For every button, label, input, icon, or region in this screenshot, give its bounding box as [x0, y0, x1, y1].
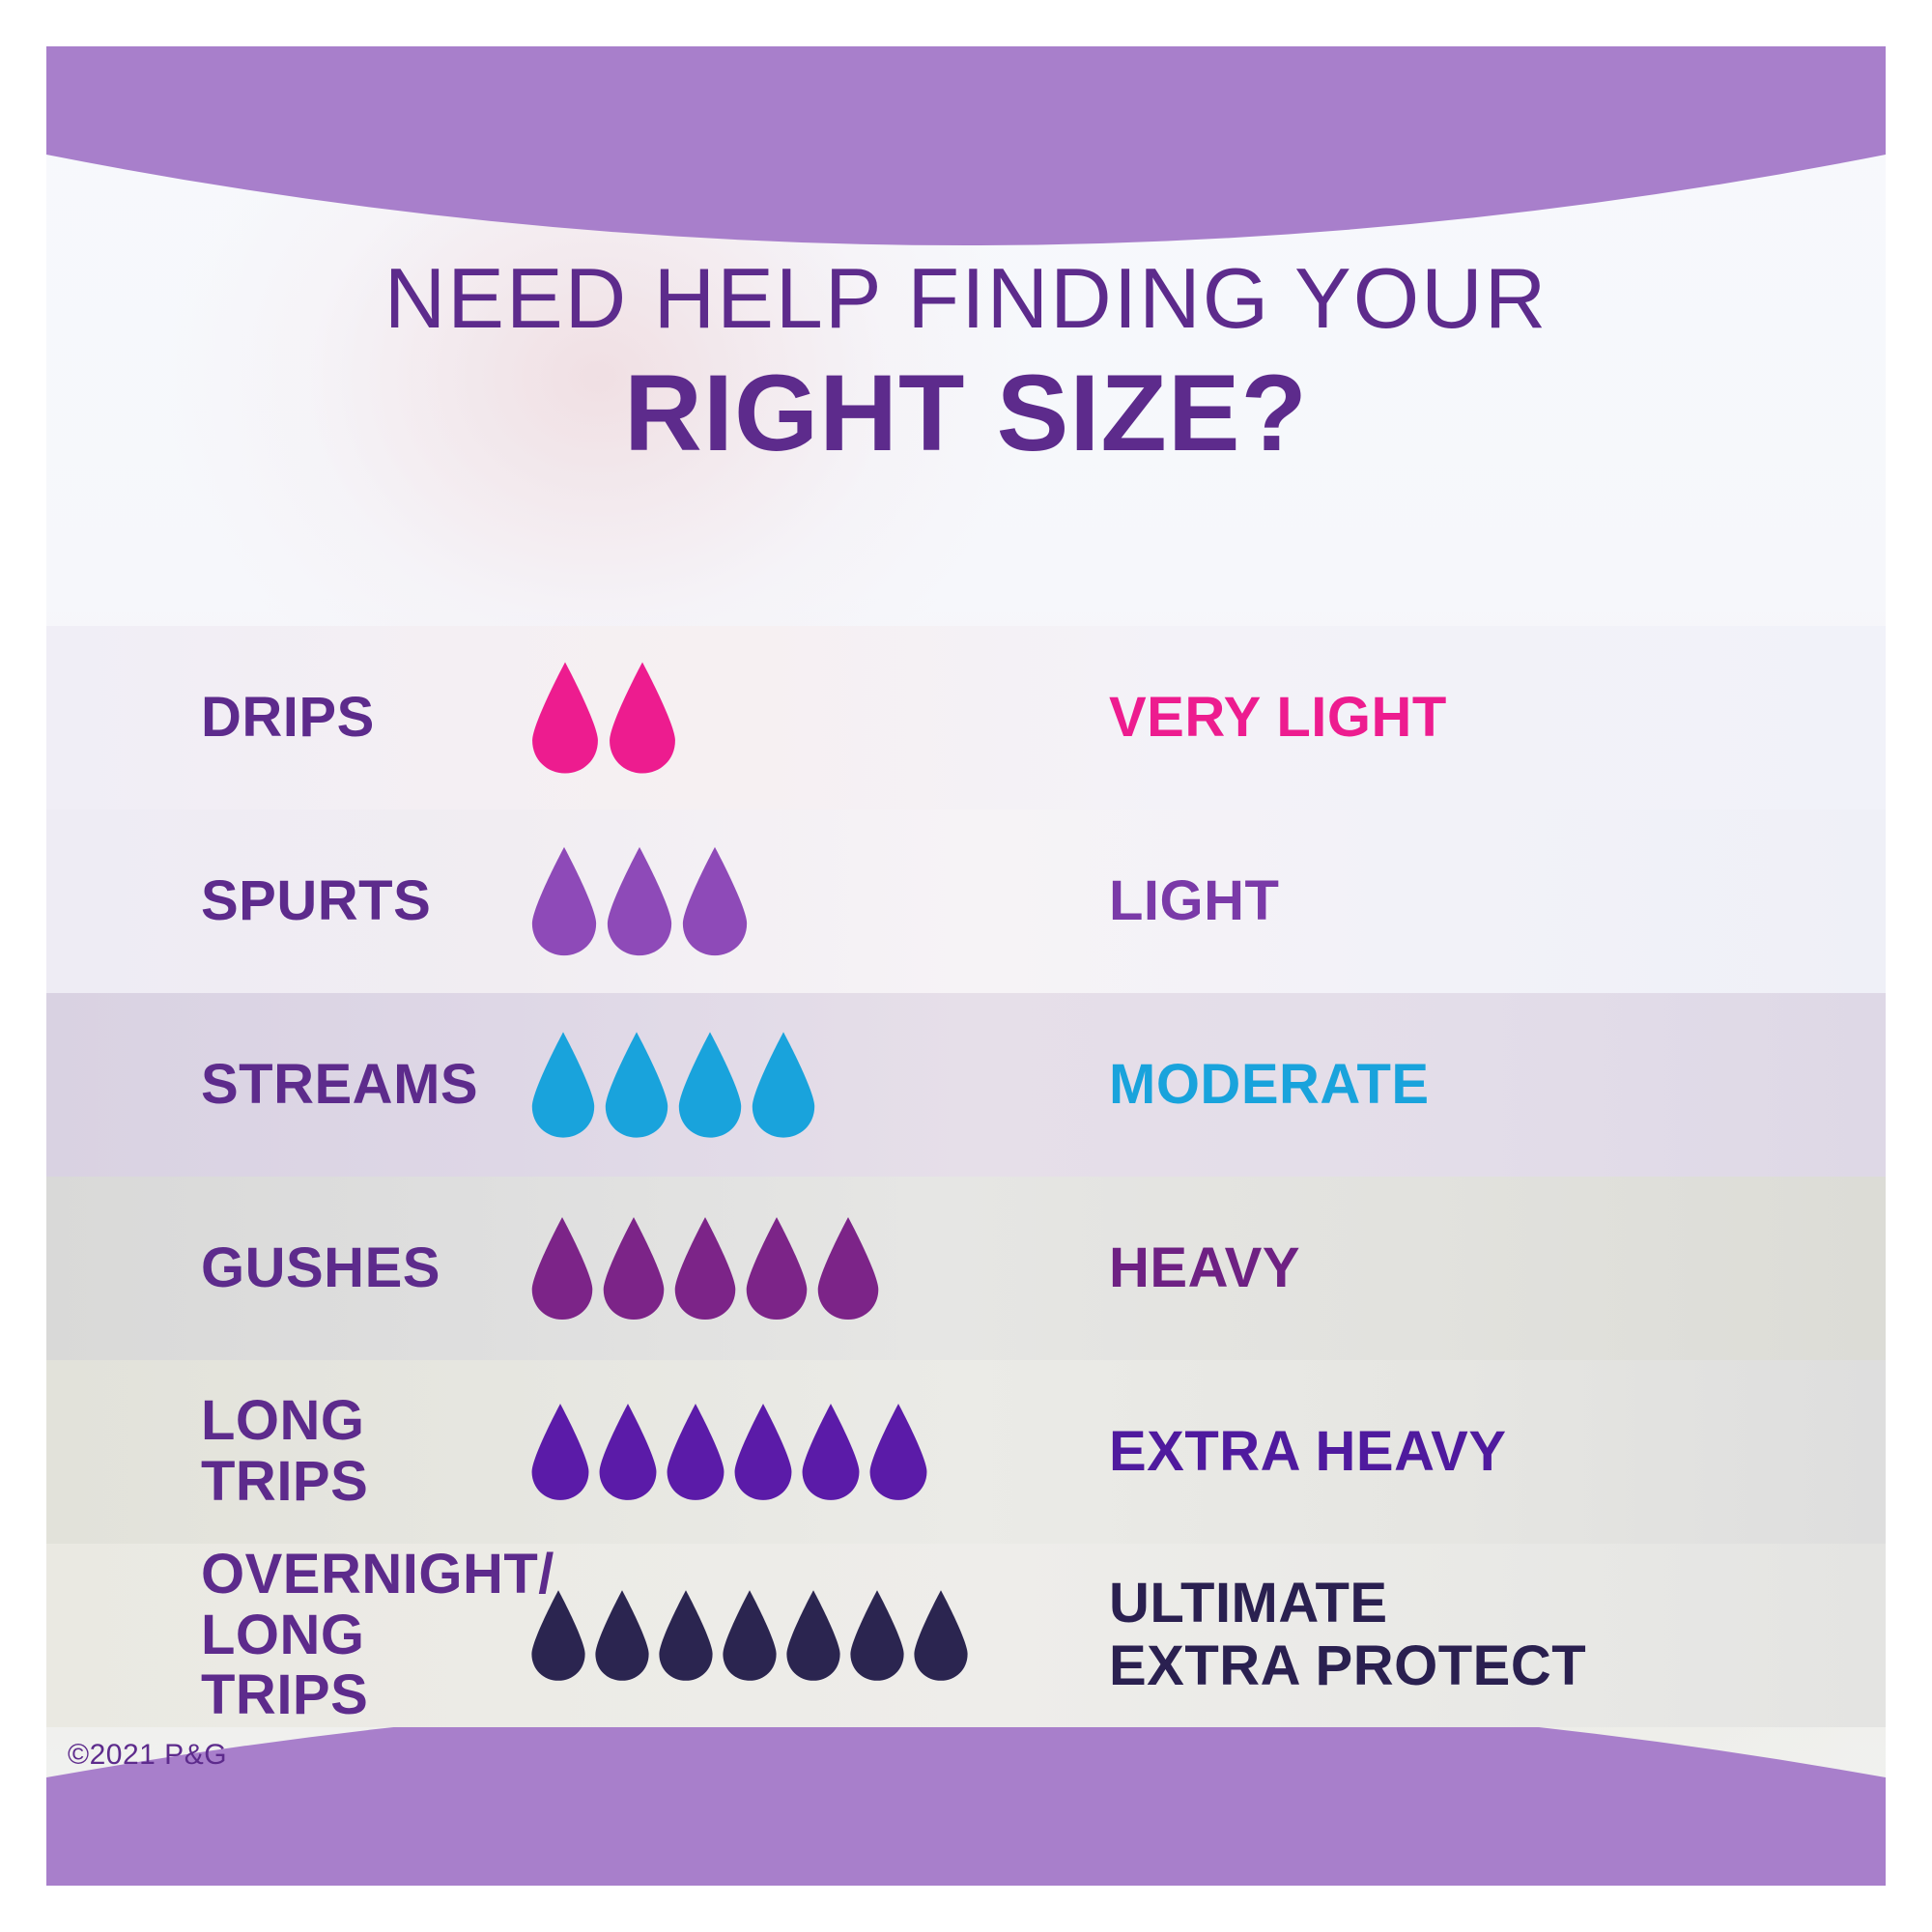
blood-drop-icon	[800, 1399, 862, 1505]
absorbency-level-line: VERY LIGHT	[1109, 687, 1886, 750]
size-guide-row: OVERNIGHT/LONG TRIPSULTIMATEEXTRA PROTEC…	[46, 1544, 1886, 1727]
absorbency-level-label: VERY LIGHT	[1090, 687, 1886, 750]
blood-drop-icon	[529, 661, 601, 775]
size-guide-row: GUSHESHEAVY	[46, 1177, 1886, 1360]
content-panel: NEED HELP FINDING YOUR RIGHT SIZE? DRIPS…	[46, 46, 1886, 1886]
size-guide-rows: DRIPSVERY LIGHTSPURTSLIGHTSTREAMSMODERAT…	[46, 626, 1886, 1727]
flow-description-label: OVERNIGHT/LONG TRIPS	[46, 1545, 529, 1726]
flow-description-line: OVERNIGHT/	[201, 1545, 529, 1605]
flow-description-label: STREAMS	[46, 1055, 529, 1116]
absorbency-level-label: LIGHT	[1090, 870, 1886, 933]
copyright-notice: ©2021 P&G	[68, 1739, 227, 1772]
size-guide-row: STREAMSMODERATE	[46, 993, 1886, 1177]
flow-description-label: GUSHES	[46, 1238, 529, 1299]
blood-drop-icon	[529, 1583, 587, 1688]
absorbency-level-label: MODERATE	[1090, 1054, 1886, 1117]
title-line-1: NEED HELP FINDING YOUR	[46, 254, 1886, 343]
blood-drop-icon	[603, 1030, 670, 1140]
absorbency-level-line: HEAVY	[1109, 1237, 1886, 1300]
blood-drop-icon	[721, 1583, 779, 1688]
flow-description-line: GUSHES	[201, 1238, 529, 1299]
flow-description-line: LONG TRIPS	[201, 1605, 529, 1726]
page-title: NEED HELP FINDING YOUR RIGHT SIZE?	[46, 254, 1886, 474]
blood-drop-icon	[680, 845, 750, 957]
blood-drop-icon	[529, 845, 599, 957]
flow-description-label: DRIPS	[46, 688, 529, 749]
blood-drop-icon	[601, 1214, 667, 1322]
blood-drop-icon	[607, 661, 678, 775]
absorbency-level-label: ULTIMATEEXTRA PROTECT	[1090, 1573, 1886, 1698]
flow-description-label: LONG TRIPS	[46, 1391, 529, 1512]
absorbency-drop-row	[529, 845, 1090, 957]
blood-drop-icon	[657, 1583, 715, 1688]
flow-description-line: LONG TRIPS	[201, 1391, 529, 1512]
absorbency-level-line: EXTRA PROTECT	[1109, 1635, 1886, 1698]
blood-drop-icon	[593, 1583, 651, 1688]
absorbency-level-line: MODERATE	[1109, 1054, 1886, 1117]
absorbency-drop-row	[529, 1030, 1090, 1140]
flow-description-line: STREAMS	[201, 1055, 529, 1116]
absorbency-drop-row	[529, 661, 1090, 775]
absorbency-level-label: EXTRA HEAVY	[1090, 1421, 1886, 1484]
blood-drop-icon	[815, 1214, 881, 1322]
blood-drop-icon	[867, 1399, 929, 1505]
size-guide-row: DRIPSVERY LIGHT	[46, 626, 1886, 810]
absorbency-level-label: HEAVY	[1090, 1237, 1886, 1300]
blood-drop-icon	[529, 1030, 597, 1140]
title-line-2: RIGHT SIZE?	[46, 353, 1886, 473]
blood-drop-icon	[597, 1399, 659, 1505]
absorbency-level-line: EXTRA HEAVY	[1109, 1421, 1886, 1484]
blood-drop-icon	[676, 1030, 744, 1140]
blood-drop-icon	[665, 1399, 726, 1505]
absorbency-drop-row	[529, 1399, 1090, 1505]
size-guide-row: SPURTSLIGHT	[46, 810, 1886, 993]
blood-drop-icon	[784, 1583, 842, 1688]
absorbency-level-line: LIGHT	[1109, 870, 1886, 933]
blood-drop-icon	[744, 1214, 810, 1322]
flow-description-line: SPURTS	[201, 871, 529, 932]
blood-drop-icon	[672, 1214, 738, 1322]
absorbency-drop-row	[529, 1583, 1090, 1688]
blood-drop-icon	[605, 845, 674, 957]
flow-description-label: SPURTS	[46, 871, 529, 932]
blood-drop-icon	[529, 1399, 591, 1505]
size-guide-row: LONG TRIPSEXTRA HEAVY	[46, 1360, 1886, 1544]
absorbency-drop-row	[529, 1214, 1090, 1322]
flow-description-line: DRIPS	[201, 688, 529, 749]
blood-drop-icon	[750, 1030, 817, 1140]
blood-drop-icon	[732, 1399, 794, 1505]
infographic-canvas: NEED HELP FINDING YOUR RIGHT SIZE? DRIPS…	[0, 0, 1932, 1932]
absorbency-level-line: ULTIMATE	[1109, 1573, 1886, 1635]
blood-drop-icon	[848, 1583, 906, 1688]
blood-drop-icon	[912, 1583, 970, 1688]
blood-drop-icon	[529, 1214, 595, 1322]
